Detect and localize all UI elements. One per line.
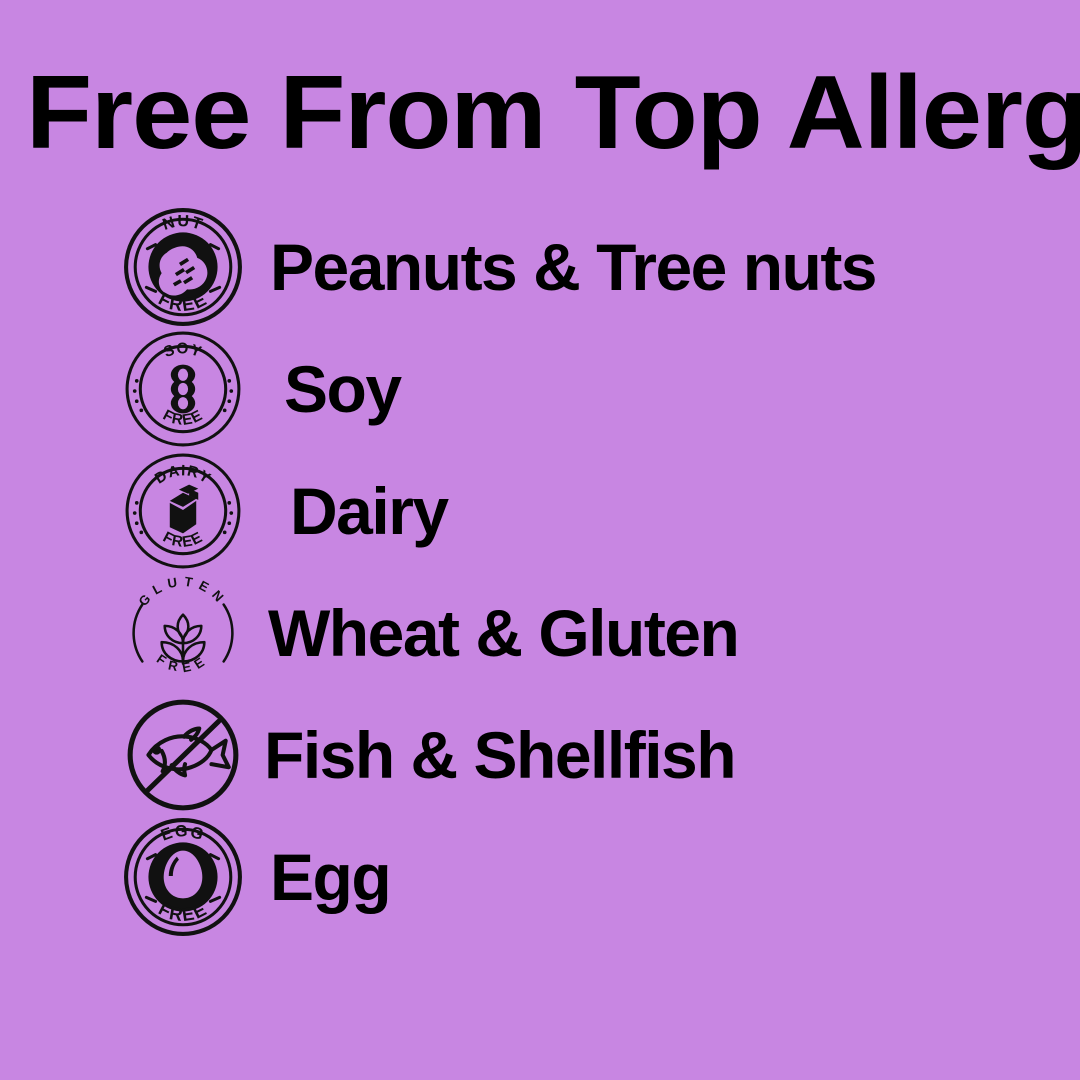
- list-item: GLUTEN FREE Wheat & Gluten: [0, 572, 1080, 694]
- page-title: Free From Top Allergens: [26, 58, 1080, 168]
- badge-top-label: NUT: [160, 212, 206, 234]
- allergen-label: Dairy: [290, 475, 448, 547]
- allergen-label: Soy: [284, 353, 401, 425]
- svg-text:SOY: SOY: [162, 340, 205, 361]
- list-item: Fish & Shellfish: [0, 694, 1080, 816]
- allergen-label: Peanuts & Tree nuts: [270, 231, 876, 303]
- list-item: EGG FREE Egg: [0, 816, 1080, 938]
- allergen-label: Egg: [270, 841, 390, 913]
- svg-text:DAIRY: DAIRY: [152, 462, 214, 487]
- allergen-label: Wheat & Gluten: [268, 597, 738, 669]
- soy-free-badge: SOY FREE: [118, 328, 248, 450]
- allergen-poster: Free From Top Allergens: [0, 0, 1080, 1080]
- badge-top-label: EGG: [159, 822, 208, 844]
- allergen-list: NUT FREE Peanuts & Tree nuts: [0, 206, 1080, 938]
- svg-text:NUT: NUT: [160, 212, 206, 234]
- fish-free-badge: [118, 694, 248, 816]
- list-item: NUT FREE Peanuts & Tree nuts: [0, 206, 1080, 328]
- svg-text:GLUTEN: GLUTEN: [135, 574, 230, 609]
- allergen-label: Fish & Shellfish: [264, 719, 735, 791]
- nut-free-badge: NUT FREE: [118, 206, 248, 328]
- badge-top-label: GLUTEN: [135, 574, 230, 609]
- list-item: DAIRY FREE Dairy: [0, 450, 1080, 572]
- badge-top-label: DAIRY: [152, 462, 214, 487]
- gluten-free-badge: GLUTEN FREE: [118, 572, 248, 694]
- svg-text:EGG: EGG: [159, 822, 208, 844]
- badge-top-label: SOY: [162, 340, 205, 361]
- egg-free-badge: EGG FREE: [118, 816, 248, 938]
- list-item: SOY FREE Soy: [0, 328, 1080, 450]
- dairy-free-badge: DAIRY FREE: [118, 450, 248, 572]
